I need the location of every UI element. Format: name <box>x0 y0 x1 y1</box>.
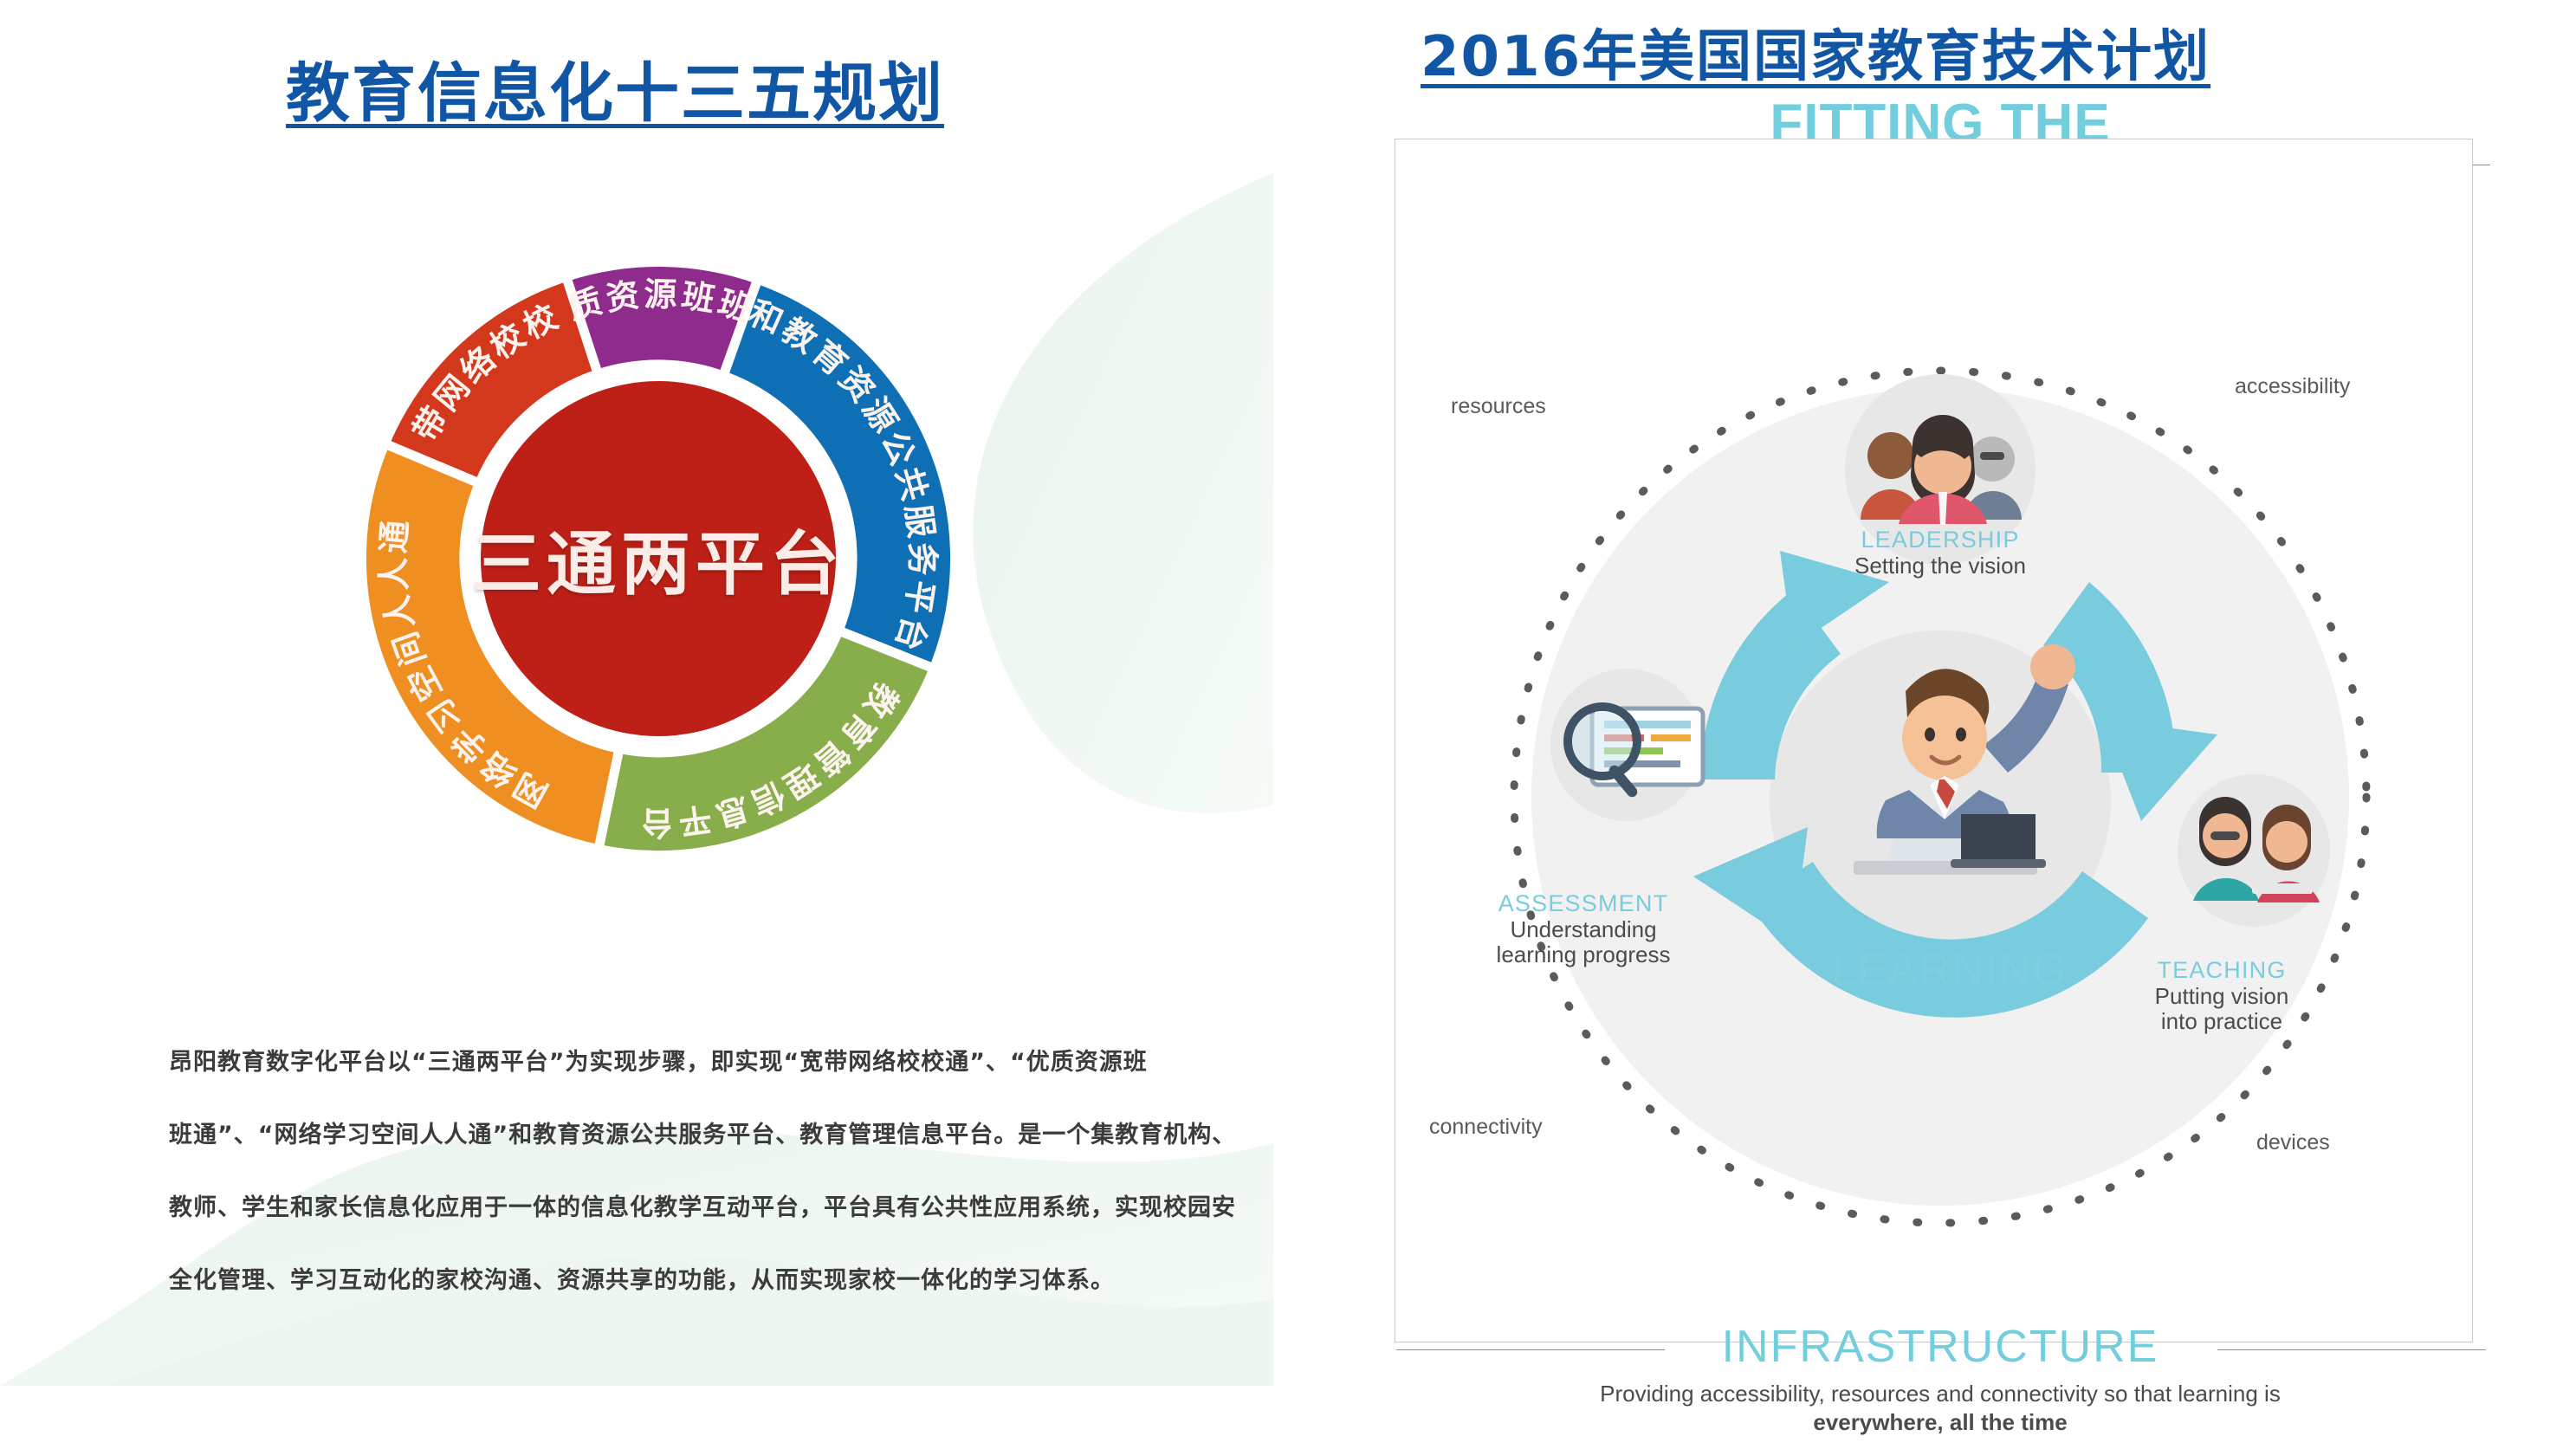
assessment-illustration <box>1550 669 1703 821</box>
assessment-sub-1: Understanding <box>1440 917 1726 942</box>
assessment-label: ASSESSMENT Understanding learning progre… <box>1440 890 1726 967</box>
body-line-2: 班通”、“网络学习空间人人通”和教育资源公共服务平台、教育管理信息平台。是一个集… <box>169 1099 1191 1172</box>
ring-label-resources: resources <box>1451 394 1546 419</box>
teaching-sub-2: into practice <box>2079 1009 2365 1034</box>
leadership-sub-1: Setting the vision <box>1797 553 2083 579</box>
left-panel: 教育信息化十三五规划 <box>0 0 1273 1449</box>
teaching-title: TEACHING <box>2079 957 2365 984</box>
infrastructure-subtitle: Providing accessibility, resources and c… <box>1386 1380 2495 1436</box>
left-body-paragraph: 昂阳教育数字化平台以“三通两平台”为实现步骤，即实现“宽带网络校校通”、“优质资… <box>169 1026 1191 1317</box>
teaching-illustration <box>2178 774 2330 927</box>
ring-label-devices: devices <box>2256 1130 2330 1155</box>
body-line-3: 教师、学生和家长信息化应用于一体的信息化教学互动平台，平台具有公共性应用系统，实… <box>169 1172 1191 1245</box>
left-page-title: 教育信息化十三五规划 <box>286 42 944 134</box>
teaching-label: TEACHING Putting vision into practice <box>2079 957 2365 1034</box>
learning-center-label: LEARNING <box>1832 944 2068 994</box>
learning-cycle-diagram <box>1386 260 2495 1351</box>
teaching-sub-1: Putting vision <box>2079 984 2365 1009</box>
ring-label-accessibility: accessibility <box>2235 374 2350 399</box>
body-line-1: 昂阳教育数字化平台以“三通两平台”为实现步骤，即实现“宽带网络校校通”、“优质资… <box>169 1026 1191 1099</box>
ring-label-connectivity: connectivity <box>1429 1115 1543 1140</box>
three-links-two-platforms-donut: 宽带网络校校通 优质资源班班通 和教育资源公共服务平台 教育管理信息平台 网络学… <box>260 160 1057 957</box>
infrastructure-sub-line2: everywhere, all the time <box>1813 1409 2067 1435</box>
assessment-sub-2: learning progress <box>1440 942 1726 967</box>
leadership-label: LEADERSHIP Setting the vision <box>1797 527 2083 579</box>
leadership-title: LEADERSHIP <box>1797 527 2083 553</box>
infrastructure-title: INFRASTRUCTURE <box>1386 1321 2495 1373</box>
infrastructure-block: INFRASTRUCTURE Providing accessibility, … <box>1386 1321 2495 1436</box>
body-line-4: 全化管理、学习互动化的家校沟通、资源共享的功能，从而实现家校一体化的学习体系。 <box>169 1245 1191 1317</box>
infrastructure-sub-line1: Providing accessibility, resources and c… <box>1386 1380 2495 1408</box>
assessment-title: ASSESSMENT <box>1440 890 1726 917</box>
slide-root: 教育信息化十三五规划 <box>0 0 2576 1449</box>
donut-hub <box>481 381 836 736</box>
